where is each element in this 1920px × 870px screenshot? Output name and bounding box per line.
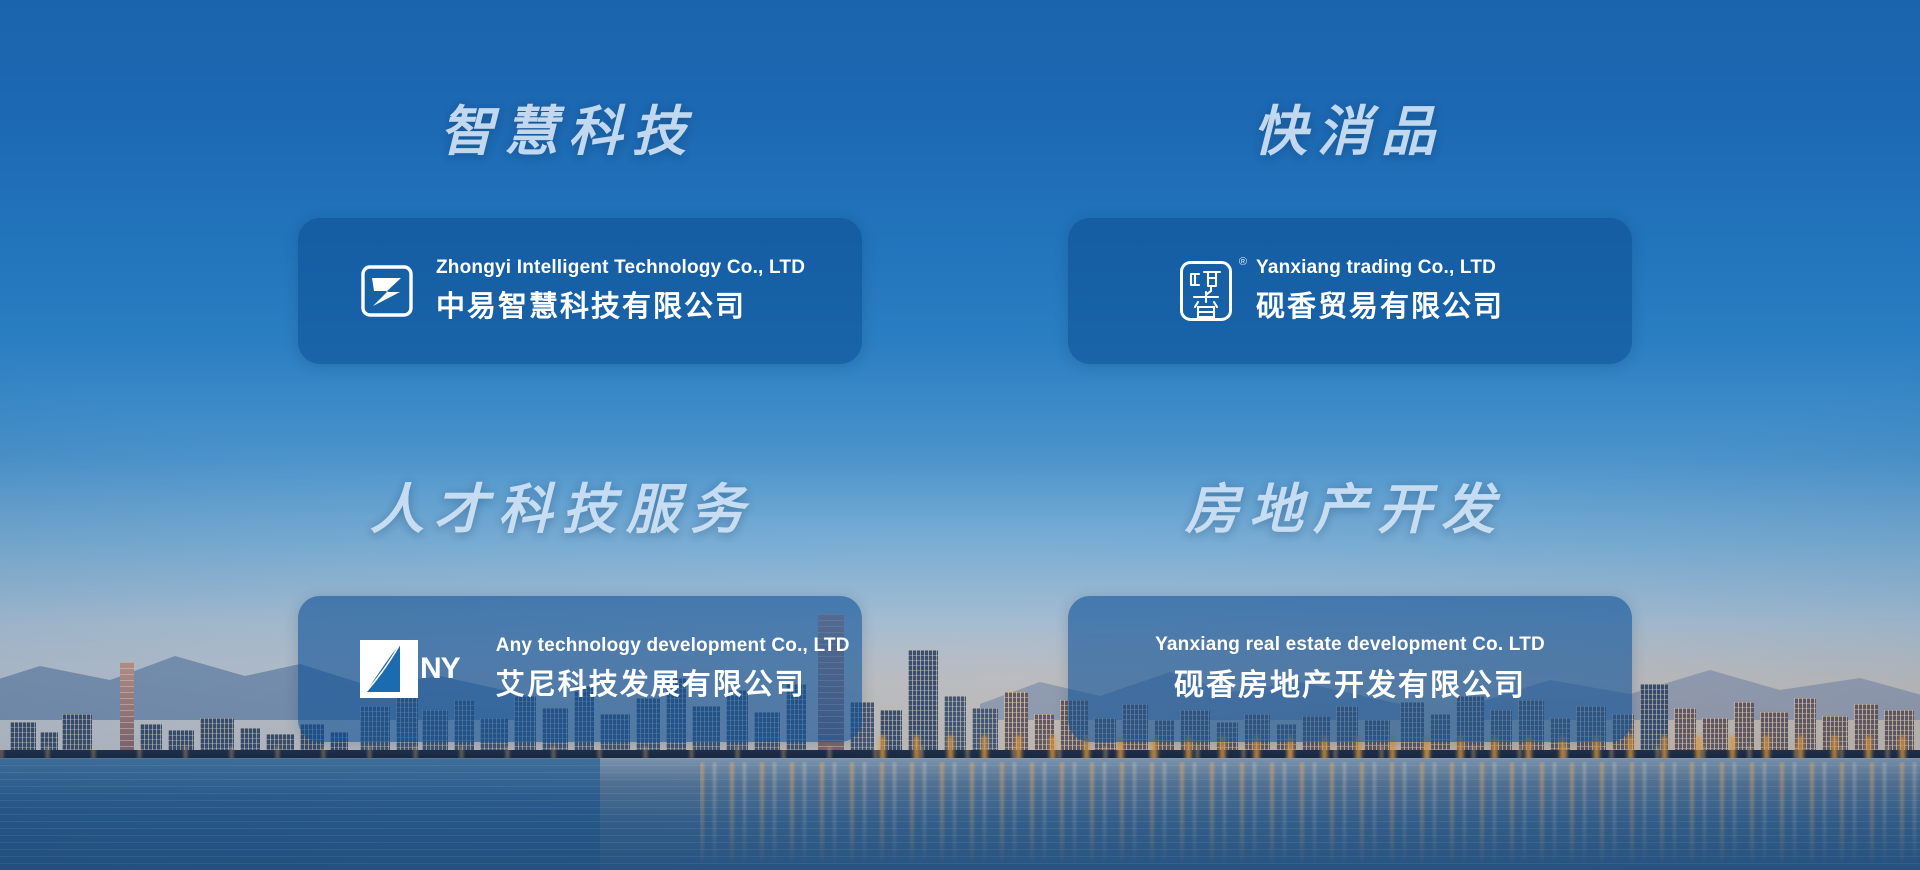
company-name-block: Yanxiang trading Co., LTD 砚香贸易有限公司 — [1256, 257, 1504, 325]
sector-heading-real-estate-development: 房地产开发 — [1185, 483, 1505, 537]
any-logo-letters: NY — [420, 652, 460, 686]
company-name-block: Yanxiang real estate development Co. LTD… — [1155, 634, 1545, 704]
company-name-block: Zhongyi Intelligent Technology Co., LTD … — [436, 257, 805, 325]
company-name-en: Zhongyi Intelligent Technology Co., LTD — [436, 257, 805, 279]
zhongyi-logo — [360, 264, 414, 318]
company-name-block: Any technology development Co., LTD 艾尼科技… — [496, 635, 850, 703]
any-logo: NY — [360, 640, 460, 698]
company-name-en: Any technology development Co., LTD — [496, 635, 850, 657]
company-card-zhongyi[interactable]: Zhongyi Intelligent Technology Co., LTD … — [298, 218, 862, 364]
company-card-yanxiang-real-estate[interactable]: Yanxiang real estate development Co. LTD… — [1068, 596, 1632, 742]
company-name-cn: 砚香房地产开发有限公司 — [1174, 660, 1526, 704]
company-name-cn: 中易智慧科技有限公司 — [436, 283, 805, 325]
company-name-en: Yanxiang real estate development Co. LTD — [1155, 634, 1545, 656]
sector-heading-fmcg: 快消品 — [1253, 105, 1445, 159]
business-sectors-grid: 智慧科技 Zhongyi Intelligent Technology Co.,… — [0, 0, 1920, 870]
sector-heading-talent-technology-service: 人才科技服务 — [370, 483, 754, 537]
registered-trademark-icon: ® — [1239, 257, 1247, 268]
company-name-en: Yanxiang trading Co., LTD — [1256, 257, 1504, 279]
company-card-yanxiang-trading[interactable]: ® Yanxiang trading Co., LTD 砚香贸易有限公司 — [1068, 218, 1632, 364]
yanxiang-seal-logo: ® — [1178, 259, 1234, 323]
company-name-cn: 艾尼科技发展有限公司 — [496, 661, 850, 703]
sector-heading-smart-technology: 智慧科技 — [440, 105, 696, 159]
company-name-cn: 砚香贸易有限公司 — [1256, 283, 1504, 325]
company-card-any-technology[interactable]: NY Any technology development Co., LTD 艾… — [298, 596, 862, 742]
